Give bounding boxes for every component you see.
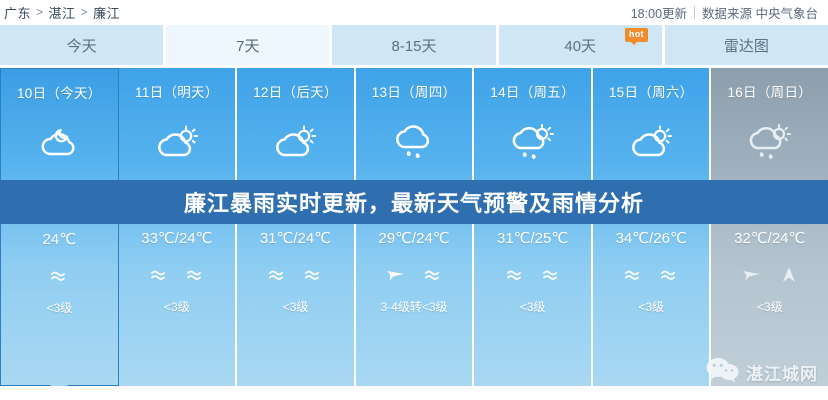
tab-label: 雷达图 bbox=[724, 35, 769, 56]
partly-cloudy-icon bbox=[627, 112, 675, 174]
bottom-strip bbox=[0, 386, 828, 400]
breadcrumb-separator: > bbox=[36, 5, 44, 19]
temperature: 34℃/26℃ bbox=[616, 220, 687, 258]
tab-3[interactable]: 8-15天 bbox=[332, 25, 495, 65]
calm-wind-icon bbox=[506, 267, 524, 283]
update-info: 18:00更新 数据来源 中央气象台 bbox=[631, 3, 818, 22]
wind-direction-icons bbox=[268, 258, 322, 292]
wind-arrow-icon bbox=[742, 267, 762, 283]
day-label: 12日（后天） bbox=[253, 76, 338, 110]
wind-direction-icons bbox=[624, 258, 678, 292]
forecast-day-column[interactable]: 16日（周日） 阵雨转暴雨32℃/24℃ <3级 bbox=[711, 68, 828, 386]
temperature: 31℃/25℃ bbox=[497, 220, 568, 258]
data-source-label: 数据来源 中央气象台 bbox=[702, 3, 818, 22]
calm-wind-icon bbox=[624, 267, 642, 283]
calm-wind-icon bbox=[186, 267, 204, 283]
breadcrumb-item-district[interactable]: 廉江 bbox=[93, 3, 120, 22]
temperature: 31℃/24℃ bbox=[260, 220, 331, 258]
weather-forecast-page: 广东 > 湛江 > 廉江 18:00更新 数据来源 中央气象台 今天7天8-15… bbox=[0, 0, 828, 400]
partly-cloudy-icon bbox=[153, 112, 201, 174]
temperature: 24℃ bbox=[43, 221, 77, 259]
wind-direction-icons bbox=[506, 258, 560, 292]
calm-wind-icon bbox=[660, 267, 678, 283]
tab-label: 今天 bbox=[67, 35, 97, 56]
forecast-day-column[interactable]: 13日（周四） 中雨转阵雨29℃/24℃ 3-4级转<3级 bbox=[356, 68, 475, 386]
wind-level: <3级 bbox=[164, 292, 190, 322]
tab-label: 8-15天 bbox=[391, 35, 436, 56]
forecast-tab-bar: 今天7天8-15天40天hot雷达图 bbox=[0, 25, 828, 65]
temperature: 33℃/24℃ bbox=[141, 220, 212, 258]
day-label: 14日（周五） bbox=[490, 76, 575, 110]
overlay-title: 廉江暴雨实时更新，最新天气预警及雨情分析 bbox=[184, 186, 644, 218]
forecast-day-column[interactable]: 15日（周六） 多云转阵雨34℃/26℃ <3级 bbox=[593, 68, 712, 386]
forecast-strip: 10日（今天） 多云24℃ <3级11日（明天） 多云33℃/24℃ bbox=[0, 68, 828, 386]
calm-wind-icon bbox=[424, 267, 442, 283]
tab-4[interactable]: 40天hot bbox=[499, 25, 662, 65]
wind-level: <3级 bbox=[638, 292, 664, 322]
calm-wind-icon bbox=[150, 267, 168, 283]
day-label: 13日（周四） bbox=[372, 76, 457, 110]
day-label: 15日（周六） bbox=[609, 76, 694, 110]
calm-wind-icon bbox=[50, 268, 68, 284]
calm-wind-icon bbox=[268, 267, 286, 283]
forecast-day-column[interactable]: 14日（周五） 阵雨转多云31℃/25℃ <3级 bbox=[474, 68, 593, 386]
overlay-title-band: 廉江暴雨实时更新，最新天气预警及雨情分析 bbox=[0, 180, 828, 224]
temperature: 32℃/24℃ bbox=[734, 220, 805, 258]
top-bar: 广东 > 湛江 > 廉江 18:00更新 数据来源 中央气象台 bbox=[0, 0, 828, 24]
wind-direction-icons bbox=[742, 258, 798, 292]
breadcrumb-item-province[interactable]: 广东 bbox=[4, 3, 31, 22]
day-label: 11日（明天） bbox=[135, 76, 219, 110]
forecast-day-column[interactable]: 10日（今天） 多云24℃ <3级 bbox=[0, 68, 119, 386]
tab-1[interactable]: 今天 bbox=[0, 25, 163, 65]
wind-level: <3级 bbox=[757, 292, 783, 322]
breadcrumb-item-city[interactable]: 湛江 bbox=[49, 3, 76, 22]
sun-shower-icon bbox=[745, 112, 795, 174]
forecast-day-column[interactable]: 12日（后天） 多云31℃/24℃ <3级 bbox=[237, 68, 356, 386]
calm-wind-icon bbox=[542, 267, 560, 283]
wind-level: <3级 bbox=[520, 292, 546, 322]
wind-level: <3级 bbox=[46, 293, 72, 323]
partly-cloudy-icon bbox=[271, 112, 319, 174]
day-label: 16日（周日） bbox=[727, 76, 812, 110]
cloudy-night-icon bbox=[36, 113, 82, 175]
tab-label: 40天 bbox=[564, 35, 596, 56]
sun-shower-icon bbox=[508, 112, 558, 174]
tab-5[interactable]: 雷达图 bbox=[665, 25, 828, 65]
forecast-day-column[interactable]: 11日（明天） 多云33℃/24℃ <3级 bbox=[119, 68, 238, 386]
wind-direction-icons bbox=[150, 258, 204, 292]
tab-label: 7天 bbox=[236, 35, 259, 56]
calm-wind-icon bbox=[304, 267, 322, 283]
temperature: 29℃/24℃ bbox=[378, 220, 449, 258]
breadcrumb: 广东 > 湛江 > 廉江 bbox=[4, 3, 120, 22]
tab-2[interactable]: 7天 bbox=[166, 25, 329, 65]
wind-arrow-up-icon bbox=[780, 266, 798, 284]
wind-arrow-icon bbox=[386, 267, 406, 283]
day-label: 10日（今天） bbox=[17, 77, 102, 111]
wind-direction-icons bbox=[50, 259, 68, 293]
breadcrumb-separator: > bbox=[81, 5, 89, 19]
hot-badge: hot bbox=[625, 28, 648, 42]
rain-icon bbox=[391, 112, 437, 174]
vertical-divider bbox=[694, 6, 695, 19]
wind-level: 3-4级转<3级 bbox=[381, 292, 448, 322]
wind-level: <3级 bbox=[283, 292, 309, 322]
wind-direction-icons bbox=[386, 258, 442, 292]
update-time: 18:00更新 bbox=[631, 3, 687, 22]
